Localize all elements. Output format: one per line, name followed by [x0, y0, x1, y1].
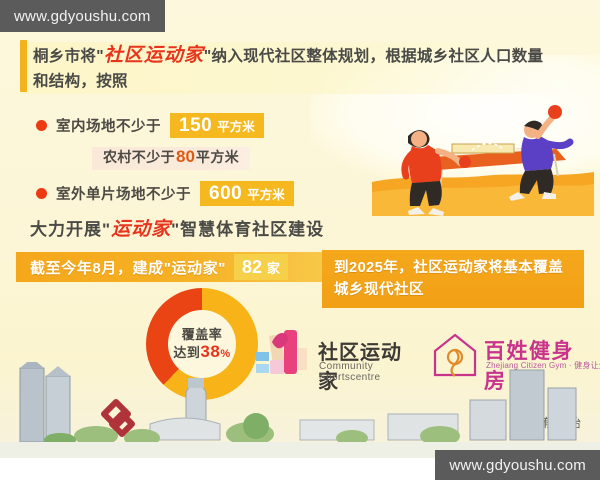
watermark-bottom: www.gdyoushu.com: [435, 450, 600, 480]
heading2-post: 智慧体育社区建设: [180, 220, 324, 239]
sub-note-value: 80: [176, 147, 195, 167]
donut-label-pre: 达到: [173, 345, 200, 360]
heading-line1-post: 纳入现代社区整体规划，根据城乡社区人口数量: [212, 48, 544, 65]
heading2-pre: 大力开展: [30, 220, 102, 239]
list-item: 室外单片场地不少于 600 平方米: [36, 180, 376, 206]
table-tennis-illustration: [372, 84, 594, 216]
donut-unit: %: [220, 348, 230, 360]
banner-value: 82: [242, 254, 262, 280]
bullet-dot-icon: [36, 188, 47, 199]
donut-label-line2: 达到38%: [173, 343, 230, 363]
infographic-root: 桐乡市将"社区运动家"纳入现代社区整体规划，根据城乡社区人口数量 和结构，按照 …: [0, 0, 600, 480]
donut-value: 38: [200, 342, 220, 361]
sub-note-suffix: 平方米: [196, 147, 239, 167]
donut-label-line1: 覆盖率: [182, 326, 223, 343]
goal-line-1: 到2025年，社区运动家将基本覆盖: [334, 257, 572, 279]
heading-quote-open: ": [96, 48, 104, 65]
heading2-highlight: 运动家: [111, 219, 171, 240]
banner-unit: 家: [267, 258, 280, 277]
list-item: 室内场地不少于 150 平方米: [36, 112, 376, 138]
goal-box: 到2025年，社区运动家将基本覆盖 城乡现代社区: [322, 250, 584, 308]
heading-accent-bar: [20, 40, 27, 92]
heading-line2: 和结构，按照: [33, 73, 128, 90]
value-chip: 150 平方米: [170, 113, 264, 138]
heading-quote-close: ": [204, 48, 212, 65]
banner-value-chip: 82 家: [234, 254, 288, 280]
heading2-quote-close: ": [171, 220, 180, 239]
sub-note: 农村不少于 80 平方米: [92, 147, 250, 170]
progress-banner: 截至今年8月，建成"运动家" 82 家: [16, 252, 330, 282]
heading-highlight: 社区运动家: [104, 45, 204, 66]
page-title: 桐乡市将"社区运动家"纳入现代社区整体规划，根据城乡社区人口数量 和结构，按照: [33, 43, 593, 94]
bullet-unit: 平方米: [217, 116, 255, 135]
watermark-top: www.gdyoushu.com: [0, 0, 165, 32]
poster-canvas: 桐乡市将"社区运动家"纳入现代社区整体规划，根据城乡社区人口数量 和结构，按照 …: [0, 0, 600, 458]
section-heading-2: 大力开展"运动家"智慧体育社区建设: [30, 214, 324, 241]
sub-note-prefix: 农村不少于: [103, 147, 175, 167]
heading2-quote-open: ": [102, 220, 111, 239]
goal-line-2: 城乡现代社区: [334, 279, 572, 301]
bullet-value: 150: [179, 113, 212, 138]
bullet-unit: 平方米: [247, 184, 285, 203]
value-chip: 600 平方米: [200, 181, 294, 206]
bullet-list: 室内场地不少于 150 平方米 农村不少于 80 平方米 室外单片场地不少于 6…: [36, 112, 376, 215]
heading-line1-pre: 桐乡市将: [33, 48, 96, 65]
bullet-value: 600: [209, 181, 242, 206]
bullet-dot-icon: [36, 120, 47, 131]
city-skyline-illustration: [0, 362, 600, 458]
bullet-label: 室外单片场地不少于: [56, 183, 191, 204]
banner-text: 截至今年8月，建成"运动家": [30, 257, 226, 278]
bullet-label: 室内场地不少于: [56, 115, 161, 136]
